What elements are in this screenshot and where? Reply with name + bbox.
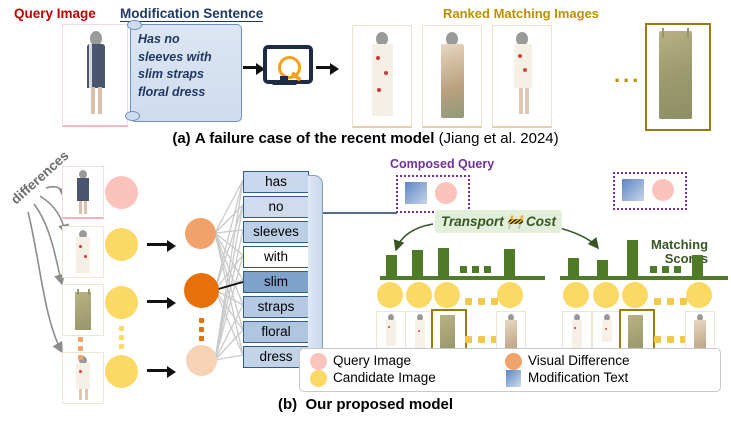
composed-query-box-right xyxy=(613,172,687,210)
legend-label-query-image: Query Image xyxy=(333,353,411,368)
legend-swatch-modification-text xyxy=(506,370,521,387)
left-chart-ellipsis xyxy=(460,266,496,273)
right-chart-candidate-circle-2 xyxy=(593,282,619,308)
matching-scores-word-1: Matching xyxy=(651,238,708,252)
word-box-has[interactable]: has xyxy=(243,171,309,193)
word-box-with[interactable]: with xyxy=(243,246,309,268)
transport-cost-word-1: Transport xyxy=(441,214,504,229)
right-chart-bar-n xyxy=(692,255,703,276)
visual-difference-circle-2 xyxy=(184,273,219,308)
left-chart-candidate-circle-n xyxy=(497,282,523,308)
legend-swatch-candidate-image xyxy=(310,370,327,387)
left-chart-candidate-circle-1 xyxy=(377,282,403,308)
legend-label-modification-text: Modification Text xyxy=(528,370,628,385)
left-chart-bar-1 xyxy=(386,255,397,276)
right-chart-axis xyxy=(560,276,728,280)
modification-text-swatch-right xyxy=(622,179,644,201)
difference-column-ellipsis xyxy=(199,318,204,345)
arrow-to-difference-n-icon xyxy=(147,369,167,372)
composed-query-box-left xyxy=(396,175,470,213)
left-chart-candidate-circle-3 xyxy=(434,282,460,308)
right-chart-bar-2 xyxy=(597,260,608,276)
embedding-column-ellipsis xyxy=(119,326,124,353)
right-chart-ellipsis xyxy=(650,266,686,273)
caption-b: (b) Our proposed model xyxy=(0,396,731,413)
caption-b-index: (b) xyxy=(278,396,297,413)
visual-difference-circle-n xyxy=(186,345,217,376)
right-chart-candidate-circle-3 xyxy=(622,282,648,308)
word-box-sleeves[interactable]: sleeves xyxy=(243,221,309,243)
caption-b-text: Our proposed model xyxy=(305,396,453,413)
query-thumbnail-small xyxy=(62,166,104,219)
legend-label-candidate-image: Candidate Image xyxy=(333,370,436,385)
legend-label-visual-difference: Visual Difference xyxy=(528,353,630,368)
transport-cost-word-2: Cost xyxy=(526,214,556,229)
transport-cost-label: Transport 🚧 Cost xyxy=(435,210,562,233)
left-chart-bar-3 xyxy=(438,248,449,276)
candidate-thumbnail-1 xyxy=(62,226,104,278)
right-chart-bar-1 xyxy=(568,258,579,276)
candidate-thumbnail-2 xyxy=(62,284,104,336)
legend-swatch-visual-difference xyxy=(505,353,522,370)
transport-icon: 🚧 xyxy=(507,214,523,230)
word-box-no[interactable]: no xyxy=(243,196,309,218)
query-image-swatch-right xyxy=(652,179,674,201)
word-box-slim[interactable]: slim xyxy=(243,271,309,293)
left-chart-bar-2 xyxy=(412,250,423,276)
composed-query-label: Composed Query xyxy=(390,157,494,171)
word-box-floral[interactable]: floral xyxy=(243,321,309,343)
modification-text-swatch-left xyxy=(405,182,427,204)
arrow-to-difference-2-icon xyxy=(147,300,167,303)
query-embedding-circle xyxy=(105,176,138,209)
legend: Query Image Candidate Image Visual Diffe… xyxy=(299,348,721,392)
candidate-embedding-circle-n xyxy=(105,355,138,388)
right-chart-bar-3 xyxy=(627,240,638,276)
query-image-swatch-left xyxy=(435,182,457,204)
right-chart-candidate-circle-n xyxy=(686,282,712,308)
word-box-straps[interactable]: straps xyxy=(243,296,309,318)
candidate-embedding-circle-2 xyxy=(105,286,138,319)
left-chart-candidate-circle-2 xyxy=(406,282,432,308)
right-chart-candidate-circle-1 xyxy=(563,282,589,308)
left-chart-bar-n xyxy=(504,249,515,276)
arrow-to-difference-1-icon xyxy=(147,243,167,246)
visual-difference-circle-1 xyxy=(185,218,216,249)
legend-swatch-query-image xyxy=(310,353,327,370)
left-chart-axis xyxy=(380,276,545,280)
thumbnail-column-ellipsis xyxy=(78,337,83,364)
candidate-embedding-circle-1 xyxy=(105,228,138,261)
